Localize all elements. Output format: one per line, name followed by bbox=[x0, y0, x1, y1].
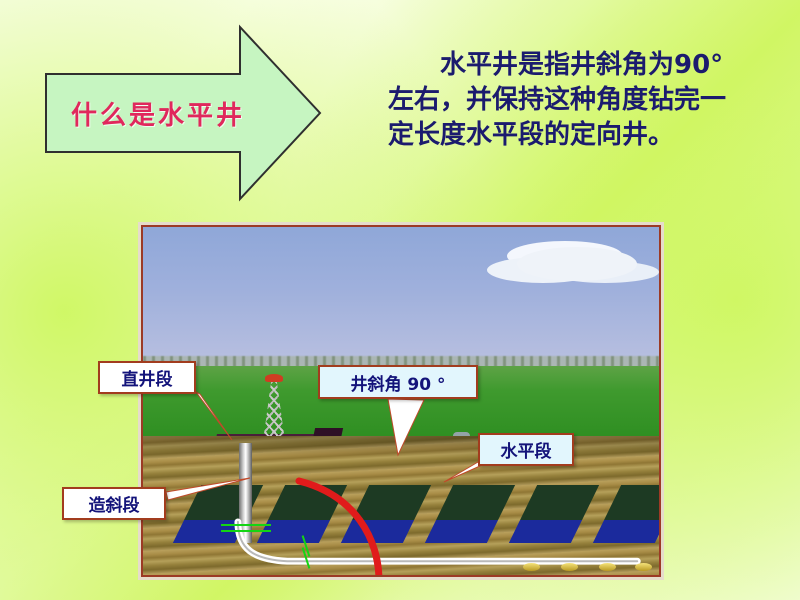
casing-collar bbox=[599, 563, 616, 571]
arrow-banner[interactable]: 什么是水平井 bbox=[44, 24, 322, 202]
illustration-frame bbox=[138, 222, 664, 580]
ground-shadow bbox=[143, 436, 659, 457]
callout-horizontal-section-label: 水平段 bbox=[501, 437, 552, 462]
crown-block bbox=[265, 374, 283, 382]
derrick-mast bbox=[263, 380, 285, 442]
body-paragraph: 水平井是指井斜角为90° 左右，并保持这种角度钻完一 定长度水平段的定向井。 bbox=[388, 48, 786, 153]
slide-canvas: 什么是水平井 水平井是指井斜角为90° 左右，并保持这种角度钻完一 定长度水平段… bbox=[0, 0, 800, 600]
body-line-2: 左右，并保持这种角度钻完一 bbox=[388, 83, 786, 118]
callout-vertical-section-label: 直井段 bbox=[122, 365, 173, 390]
body-line-1: 水平井是指井斜角为90° bbox=[440, 48, 786, 83]
well-diagram-image bbox=[141, 225, 661, 577]
arrow-shape-icon bbox=[44, 24, 322, 202]
callout-inclination-angle[interactable]: 井斜角 90 ° bbox=[318, 365, 478, 399]
casing-collar bbox=[561, 563, 578, 571]
inclination-angle-arc bbox=[239, 477, 399, 577]
callout-buildup-section[interactable]: 造斜段 bbox=[62, 487, 166, 520]
casing-collar bbox=[523, 563, 540, 571]
angle-tick bbox=[221, 524, 271, 526]
body-line-3: 定长度水平段的定向井。 bbox=[388, 118, 786, 153]
casing-collar bbox=[635, 563, 652, 571]
callout-buildup-section-label: 造斜段 bbox=[89, 491, 140, 516]
callout-inclination-angle-label: 井斜角 90 ° bbox=[351, 370, 446, 395]
angle-tick bbox=[221, 530, 271, 532]
cloud-icon bbox=[517, 247, 637, 281]
callout-vertical-section[interactable]: 直井段 bbox=[98, 361, 196, 394]
callout-horizontal-section[interactable]: 水平段 bbox=[478, 433, 574, 466]
